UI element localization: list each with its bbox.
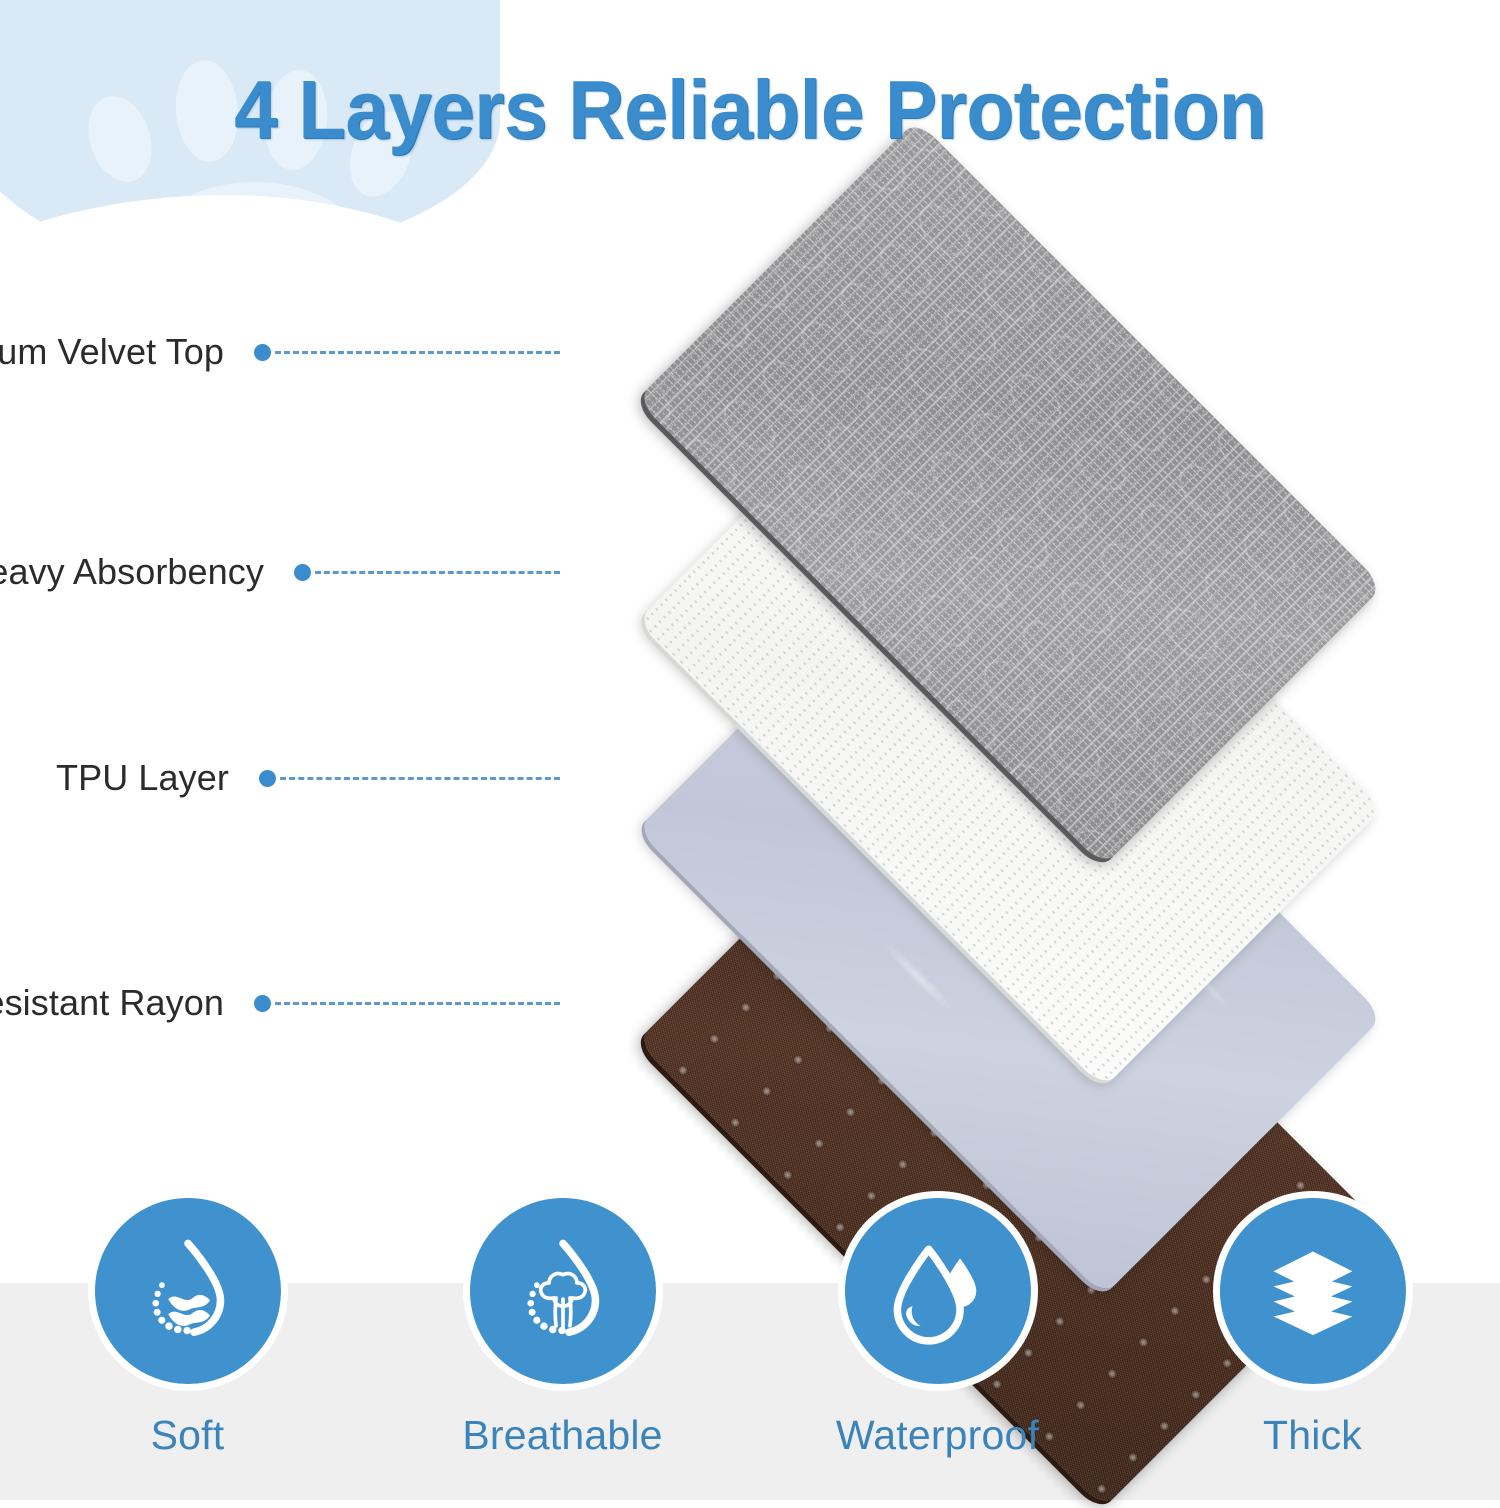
leader-dot-icon [254,344,271,361]
leader-dash [280,777,560,780]
feature-label: Waterproof [836,1412,1039,1459]
feature-label: Thick [1263,1412,1362,1459]
feature-item-waterproof: Waterproof [750,1198,1125,1500]
leader-line-velvet [254,344,560,361]
layer-label-text: Premium Velvet Top [0,331,224,373]
page-title: 4 Layers Reliable Protection [45,62,1455,158]
exploded-layer-diagram [520,175,1500,1185]
layer-label-text: Super Heavy Absorbency [0,551,264,593]
leader-line-absorbency [294,564,560,581]
droplet-cotton-icon [505,1233,621,1349]
leader-line-rayon [254,995,560,1012]
feature-icon-circle [1220,1198,1406,1384]
leader-dash [315,571,560,574]
feature-item-soft: Soft [0,1198,375,1500]
feature-icon-circle [95,1198,281,1384]
feature-item-breathable: Breathable [375,1198,750,1500]
layer-callout-slip-resistant-rayon: Slip Resistant Rayon [0,982,560,1024]
feature-icon-circle [470,1198,656,1384]
leader-dash [275,1002,560,1005]
paw-print-watermark-pad [130,182,380,260]
droplet-waves-icon [130,1233,246,1349]
feature-icon-circle [845,1198,1031,1384]
feature-item-thick: Thick [1125,1198,1500,1500]
layer-label-text: TPU Layer [56,757,229,799]
leader-dot-icon [259,770,276,787]
stacked-layers-icon [1255,1233,1371,1349]
feature-label: Soft [151,1412,225,1459]
leader-dash [275,351,560,354]
feature-list: Soft [0,1198,1500,1500]
layer-callout-tpu: TPU Layer [0,757,560,799]
layer-callout-premium-velvet-top: Premium Velvet Top [0,331,560,373]
leader-line-tpu [259,770,560,787]
water-droplets-icon [880,1233,996,1349]
layer-label-text: Slip Resistant Rayon [0,982,224,1024]
layer-callout-super-heavy-absorbency: Super Heavy Absorbency [0,551,560,593]
leader-dot-icon [294,564,311,581]
feature-label: Breathable [462,1412,662,1459]
leader-dot-icon [254,995,271,1012]
